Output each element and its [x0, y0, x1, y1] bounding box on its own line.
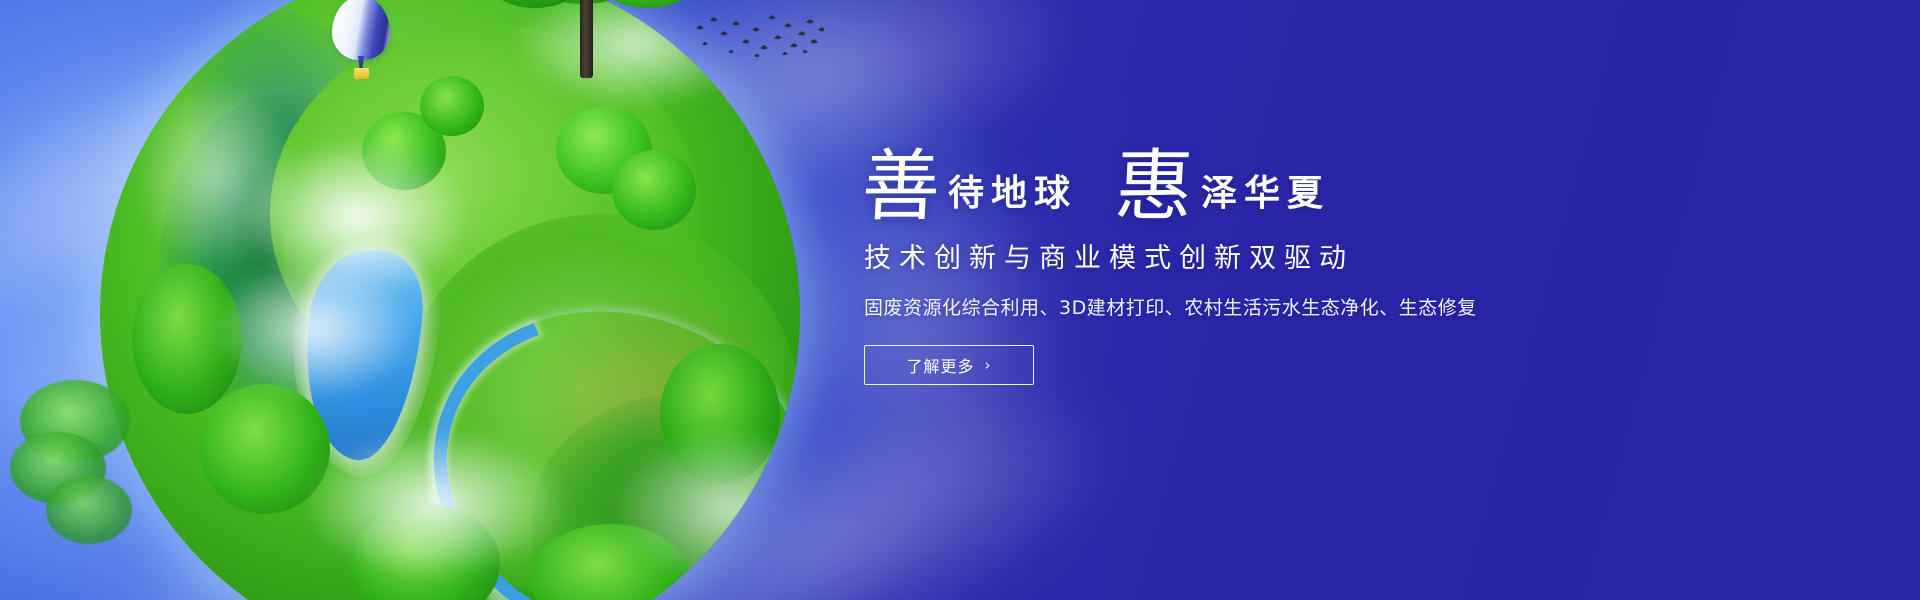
- tiny-planet-illustration: [100, 0, 800, 600]
- chevron-right-icon: ›: [985, 358, 992, 373]
- tree-icon: [612, 150, 696, 230]
- hero-description: 固废资源化综合利用、3D建材打印、农村生活污水生态净化、生态修复: [864, 293, 1722, 320]
- headline-group-1: 善 待地球: [862, 152, 1077, 224]
- hero-copy-block: 善 待地球 惠 泽华夏 技术创新与商业模式创新双驱动 固废资源化综合利用、3D建…: [862, 128, 1722, 385]
- headline-accent-char: 惠: [1113, 152, 1195, 224]
- hero-subtitle: 技术创新与商业模式创新双驱动: [864, 236, 1722, 275]
- globe-icon: [100, 0, 800, 600]
- side-tree-icon: [10, 380, 140, 580]
- tree-canopy: [46, 476, 132, 544]
- headline-rest-text: 泽华夏: [1201, 174, 1330, 224]
- tree-canopy: [590, 0, 705, 8]
- headline-group-2: 惠 泽华夏: [1115, 152, 1330, 224]
- headline-accent-char: 善: [860, 152, 942, 224]
- surface-cloud-icon: [310, 434, 560, 574]
- hot-air-balloon-icon: [332, 0, 392, 82]
- headline-rest-text: 待地球: [948, 174, 1077, 224]
- surface-cloud-icon: [220, 264, 410, 394]
- tree-icon: [420, 76, 484, 136]
- learn-more-button[interactable]: 了解更多 ›: [864, 345, 1034, 385]
- learn-more-label: 了解更多: [906, 353, 974, 377]
- foreground-tree-icon: [472, 0, 702, 74]
- hero-banner: 善 待地球 惠 泽华夏 技术创新与商业模式创新双驱动 固废资源化综合利用、3D建…: [0, 0, 1920, 600]
- balloon-envelope: [332, 0, 390, 60]
- page-title: 善 待地球 惠 泽华夏: [862, 128, 1722, 224]
- tree-trunk: [580, 0, 593, 78]
- bird-flock-icon: [694, 14, 824, 60]
- balloon-basket: [354, 68, 369, 79]
